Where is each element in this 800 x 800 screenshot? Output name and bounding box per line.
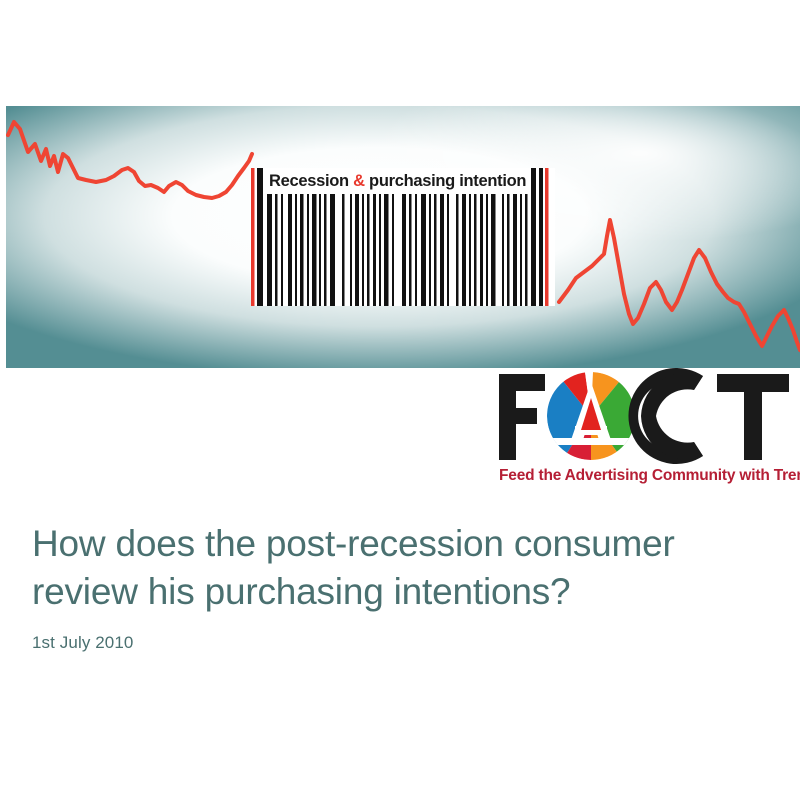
- title-block: How does the post-recession consumer rev…: [32, 520, 762, 654]
- fact-letter-t: [717, 374, 789, 460]
- fact-tagline: Feed the Advertising Community with Tren…: [499, 467, 800, 484]
- fact-letter-c: [628, 368, 703, 464]
- barcode-graphic: Recession & purchasing intention: [245, 168, 561, 306]
- fact-letter-a-colorwheel: [547, 372, 635, 460]
- hero-banner: Recession & purchasing intention: [6, 106, 800, 368]
- page-date: 1st July 2010: [32, 632, 762, 654]
- barcode-title: Recession & purchasing intention: [269, 169, 526, 193]
- fact-logo: Feed the Advertising Community with Tren…: [489, 368, 800, 486]
- page-title-line1: How does the post-recession consumer: [32, 523, 675, 564]
- page-title-line2: review his purchasing intentions?: [32, 571, 570, 612]
- page-title: How does the post-recession consumer rev…: [32, 520, 762, 616]
- barcode-title-ampersand: &: [353, 172, 365, 190]
- barcode-title-bar: Recession & purchasing intention: [245, 168, 561, 194]
- fact-letter-f: [499, 374, 545, 460]
- fact-logo-svg: Feed the Advertising Community with Tren…: [489, 368, 800, 486]
- barcode-title-suffix: purchasing intention: [365, 172, 526, 190]
- barcode-title-prefix: Recession: [269, 172, 353, 190]
